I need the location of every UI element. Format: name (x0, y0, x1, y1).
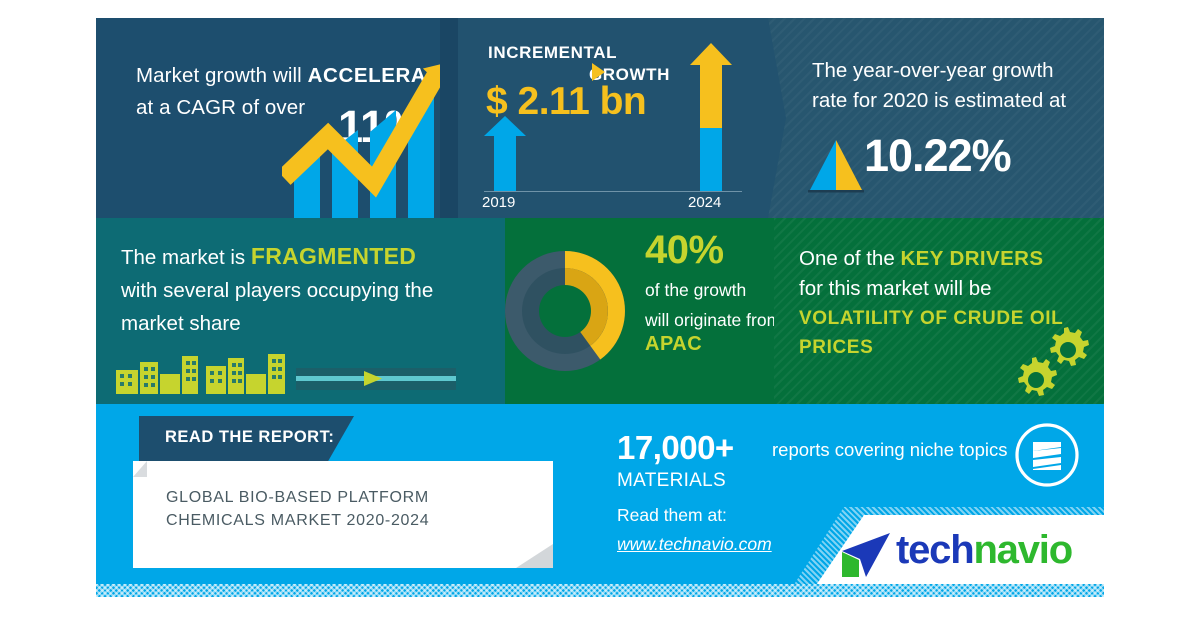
logo-text-tech: tech (896, 528, 973, 572)
read-them-at-label: Read them at: (617, 505, 727, 526)
fragmented-line2: with several players occupying the (121, 279, 433, 302)
panel-key-drivers: One of the KEY DRIVERS for this market w… (774, 218, 1104, 404)
panel-incremental-growth: INCREMENTAL GROWTH $ 2.11 bn 2019 2024 (458, 18, 764, 218)
yoy-value: 10.22% (864, 130, 1011, 182)
drivers-line1-prefix: One of the (799, 247, 900, 270)
fragmented-line1-prefix: The market is (121, 246, 251, 269)
reports-count-caption: reports covering niche topics (772, 439, 1007, 461)
city-cluster-left-icon (116, 354, 285, 394)
logo-text-navio: navio (973, 528, 1071, 572)
read-the-report-label: READ THE REPORT: (165, 428, 334, 447)
infographic-canvas: Market growth will ACCELERATE at a CAGR … (0, 0, 1200, 627)
panel-apac-share: 40% of the growth will originate from AP… (505, 218, 774, 404)
yoy-line2: rate for 2020 is estimated at (812, 89, 1066, 112)
cagr-line2: at a CAGR of over (136, 96, 305, 119)
reports-count: 17,000+ (617, 429, 734, 467)
bar-arrow-2019 (484, 116, 526, 191)
row-top: Market growth will ACCELERATE at a CAGR … (96, 18, 1104, 218)
yoy-statement: The year-over-year growth rate for 2020 … (812, 56, 1092, 116)
apac-region-label: APAC (645, 333, 702, 356)
read-the-report-ribbon: READ THE REPORT: (139, 416, 354, 461)
apac-percentage: 40% (645, 228, 724, 273)
gears-icon (1014, 322, 1090, 398)
fragmented-line1-bold: FRAGMENTED (251, 243, 416, 269)
incremental-label-line1: INCREMENTAL (488, 43, 617, 62)
footer-banner: READ THE REPORT: GLOBAL BIO-BASED PLATFO… (96, 404, 1104, 597)
technavio-wordmark: technavio (896, 528, 1072, 573)
axis-line (484, 191, 742, 192)
growth-triangle-icon (808, 138, 864, 194)
report-title: GLOBAL BIO-BASED PLATFORM CHEMICALS MARK… (166, 486, 526, 532)
donut-hole (539, 285, 591, 337)
drivers-line2: for this market will be (799, 277, 992, 300)
market-fragmentation-illustration (106, 330, 506, 404)
report-title-line2: CHEMICALS MARKET 2020-2024 (166, 512, 429, 529)
yoy-line1: The year-over-year growth (812, 59, 1054, 82)
flow-track (296, 368, 456, 390)
bar-arrow-2024 (690, 43, 732, 191)
row-middle: The market is FRAGMENTED with several pl… (96, 218, 1104, 404)
triangle-marker-icon (592, 63, 605, 81)
apac-line1: of the growth (645, 280, 746, 300)
panel-fragmented: The market is FRAGMENTED with several pl… (96, 218, 505, 404)
apac-donut-chart (490, 236, 640, 386)
website-link[interactable]: www.technavio.com (617, 534, 772, 555)
panel-yoy-growth: The year-over-year growth rate for 2020 … (764, 18, 1104, 218)
axis-label-2024: 2024 (688, 194, 721, 211)
materials-label: MATERIALS (617, 470, 726, 492)
panel-cagr: Market growth will ACCELERATE at a CAGR … (96, 18, 458, 218)
axis-label-2019: 2019 (482, 194, 515, 211)
banner-halftone-strip (96, 584, 1104, 597)
panel-divider-1 (440, 18, 458, 218)
report-title-line1: GLOBAL BIO-BASED PLATFORM (166, 489, 429, 506)
fragmented-statement: The market is FRAGMENTED with several pl… (121, 240, 491, 340)
drivers-line1-bold: KEY DRIVERS (900, 247, 1043, 270)
apac-line2: will originate from (645, 310, 781, 330)
database-icon (1014, 422, 1080, 488)
